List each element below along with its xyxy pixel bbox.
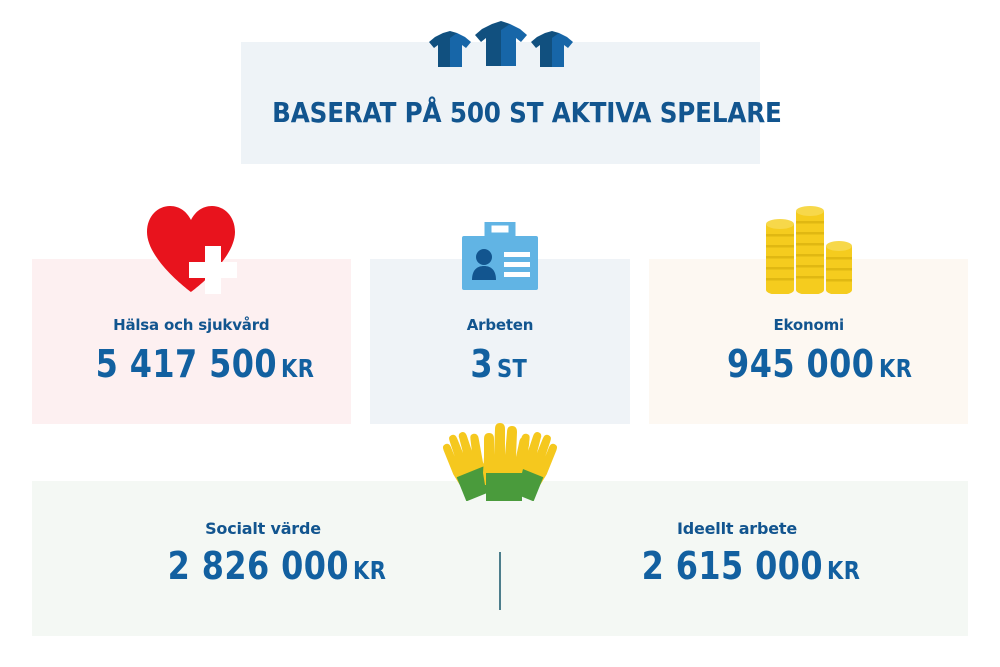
header-banner: BASERAT PÅ 500 ST AKTIVA SPELARE — [241, 42, 760, 164]
metric-value: 3ST — [370, 345, 631, 383]
bottom-column-voluntary-work: Ideellt arbete 2 615 000KR — [522, 519, 952, 585]
metric-label: Arbeten — [370, 316, 631, 334]
infographic-page: { "header": { "title": "BASERAT PÅ 500 S… — [0, 0, 1000, 667]
bottom-value-number: 2 826 000 — [168, 547, 349, 585]
coin-stacks-icon — [649, 204, 968, 294]
bottom-panel: Socialt värde 2 826 000KR Ideellt arbete… — [32, 481, 968, 636]
metric-value-number: 945 000 — [727, 345, 874, 383]
metric-label: Hälsa och sjukvård — [32, 316, 351, 334]
metric-value-number: 5 417 500 — [96, 345, 277, 383]
id-badge-briefcase-icon — [370, 204, 631, 294]
bottom-value-unit: KR — [827, 558, 860, 583]
jersey-icon-group — [241, 24, 760, 74]
jersey-icon — [531, 31, 573, 74]
metric-card-row: Hälsa och sjukvård 5 417 500KR Arbeten 3… — [32, 259, 968, 424]
bottom-value: 2 826 000KR — [48, 547, 478, 585]
metric-card-economy: Ekonomi 945 000KR — [649, 259, 968, 424]
metric-value-unit: KR — [281, 356, 314, 381]
metric-card-health: Hälsa och sjukvård 5 417 500KR — [32, 259, 351, 424]
bottom-column-social-value: Socialt värde 2 826 000KR — [48, 519, 478, 585]
metric-card-jobs: Arbeten 3ST — [370, 259, 631, 424]
bottom-value-number: 2 615 000 — [642, 547, 823, 585]
metric-value-number: 3 — [471, 345, 494, 383]
bottom-label: Socialt värde — [48, 519, 478, 538]
page-title: BASERAT PÅ 500 ST AKTIVA SPELARE — [272, 96, 729, 129]
metric-label: Ekonomi — [649, 316, 968, 334]
jersey-icon — [475, 21, 527, 74]
jersey-icon — [429, 31, 471, 74]
bottom-column-divider — [499, 552, 501, 610]
bottom-value-unit: KR — [353, 558, 386, 583]
metric-value-unit: ST — [497, 356, 527, 381]
metric-value: 945 000KR — [649, 345, 968, 383]
metric-value-unit: KR — [879, 356, 912, 381]
heart-with-cross-icon — [32, 204, 351, 294]
raised-hands-icon — [32, 439, 968, 501]
metric-value: 5 417 500KR — [32, 345, 351, 383]
bottom-value: 2 615 000KR — [522, 547, 952, 585]
bottom-label: Ideellt arbete — [522, 519, 952, 538]
